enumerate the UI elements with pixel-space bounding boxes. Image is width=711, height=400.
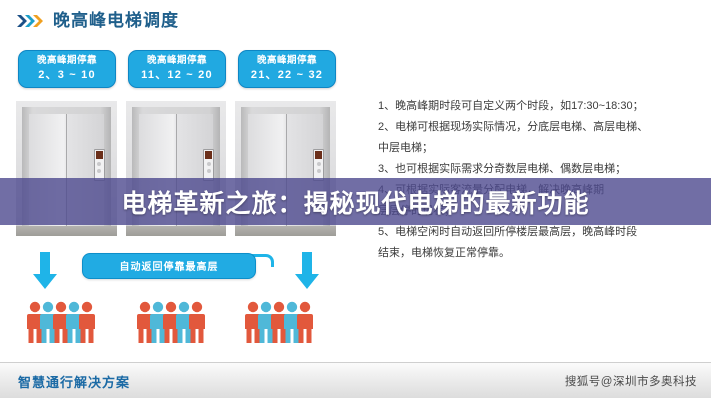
zone-badge-title: 晚高峰期停靠	[131, 55, 223, 67]
footer-bar: 智慧通行解决方案 搜狐号@深圳市多奥科技	[0, 362, 711, 400]
note-line: 2、电梯可根据现场实际情况，分底层电梯、高层电梯、	[378, 117, 698, 138]
note-line: 结束，电梯恢复正常停靠。	[378, 243, 698, 264]
note-line: 5、电梯空闲时自动返回所停楼层最高层，晚高峰时段	[378, 222, 698, 243]
note-line: 3、也可根据实际需求分奇数层电梯、偶数层电梯；	[378, 159, 698, 180]
zone-badge-high[interactable]: 晚高峰期停靠 21、22 ~ 32	[238, 50, 336, 88]
zone-badge-low[interactable]: 晚高峰期停靠 2、3 ~ 10	[18, 50, 116, 88]
person-icon	[189, 300, 205, 344]
floor-display	[205, 151, 212, 159]
zone-badge-range: 21、22 ~ 32	[241, 68, 333, 82]
zone-badge-row: 晚高峰期停靠 2、3 ~ 10 晚高峰期停靠 11、12 ~ 20 晚高峰期停靠…	[18, 50, 336, 88]
footer-watermark: 搜狐号@深圳市多奥科技	[565, 373, 697, 389]
zone-badge-range: 2、3 ~ 10	[21, 68, 113, 82]
call-button-up	[97, 162, 101, 166]
article-title-banner: 电梯革新之旅：揭秘现代电梯的最新功能	[0, 178, 711, 225]
auto-return-callout[interactable]: 自动返回停靠最高层	[82, 253, 256, 279]
passenger-group-low	[30, 300, 95, 344]
zone-badge-mid[interactable]: 晚高峰期停靠 11、12 ~ 20	[128, 50, 226, 88]
section-header: 晚高峰电梯调度	[16, 12, 179, 29]
lobby-floor	[16, 226, 117, 236]
passenger-group-mid	[140, 300, 205, 344]
elevator-call-panel-icon	[94, 149, 105, 181]
call-button-down	[207, 169, 211, 173]
arrow-down-icon	[32, 252, 58, 290]
footer-brand-label: 智慧通行解决方案	[18, 372, 130, 391]
call-button-up	[317, 162, 321, 166]
zone-badge-title: 晚高峰期停靠	[241, 55, 333, 67]
lobby-floor	[235, 226, 336, 236]
floor-display	[96, 151, 103, 159]
auto-return-label: 自动返回停靠最高层	[120, 262, 219, 273]
person-icon	[79, 300, 95, 344]
article-title: 电梯革新之旅：揭秘现代电梯的最新功能	[121, 184, 589, 220]
elevator-call-panel-icon	[313, 149, 324, 181]
lobby-floor	[126, 226, 227, 236]
note-line: 1、晚高峰期时段可自定义两个时段，如17:30~18:30；	[378, 96, 698, 117]
floor-display	[315, 151, 322, 159]
page-title: 晚高峰电梯调度	[53, 12, 179, 29]
note-line: 中层电梯；	[378, 138, 698, 159]
waiting-passengers-row	[16, 300, 336, 348]
zone-badge-title: 晚高峰期停靠	[21, 55, 113, 67]
double-chevron-right-icon	[16, 13, 46, 29]
passenger-group-high	[248, 300, 313, 344]
zone-badge-range: 11、12 ~ 20	[131, 68, 223, 82]
elevator-call-panel-icon	[203, 149, 214, 181]
call-button-up	[207, 162, 211, 166]
slide-canvas: 晚高峰电梯调度 晚高峰期停靠 2、3 ~ 10 晚高峰期停靠 11、12 ~ 2…	[0, 0, 711, 400]
arrow-down-icon	[294, 252, 320, 290]
call-button-down	[317, 169, 321, 173]
call-button-down	[97, 169, 101, 173]
person-icon	[297, 300, 313, 344]
